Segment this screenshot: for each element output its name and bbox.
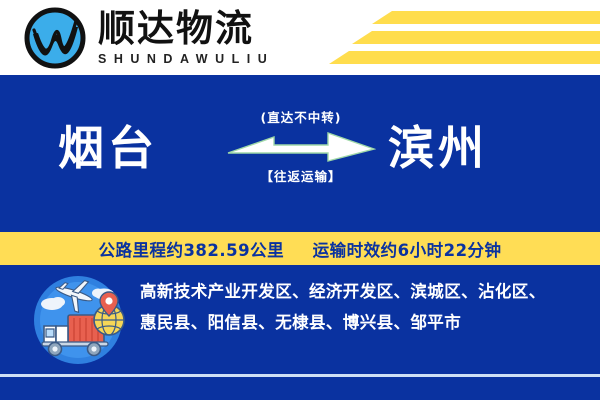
coverage-line-2: 惠民县、阳信县、无棣县、博兴县、邹平市 [140,308,588,339]
stats-bar: 公路里程约382.59公里 运输时效约6小时22分钟 [0,232,600,265]
stats-text-group: 公路里程约382.59公里 运输时效约6小时22分钟 [98,237,501,261]
brand-name-en: SHUNDAWULIU [98,52,274,66]
brand-logo-block: 顺达物流 SHUNDAWULIU [22,5,274,71]
brand-wordmark: 顺达物流 SHUNDAWULIU [98,10,274,66]
duration-label: 运输时效约6小时22分钟 [313,241,502,260]
coverage-area-list: 高新技术产业开发区、经济开发区、滨城区、沾化区、 惠民县、阳信县、无棣县、博兴县… [140,277,588,338]
distance-label: 公路里程约382.59公里 [98,241,284,260]
decorative-stripe-top [392,11,600,24]
logistics-truck-globe-plane-icon [22,270,134,370]
brand-name-cn: 顺达物流 [98,10,274,49]
logistics-route-banner: 顺达物流 SHUNDAWULIU 烟台 (直达不中转) 【往返运输】 滨州 公路… [0,0,600,400]
route-note-below: 【往返运输】 [226,170,376,184]
banner-header: 顺达物流 SHUNDAWULIU [0,0,600,75]
bidirectional-arrow-icon [226,131,376,165]
coverage-section: 高新技术产业开发区、经济开发区、滨城区、沾化区、 惠民县、阳信县、无棣县、博兴县… [0,265,600,374]
decorative-stripe-bottom [349,51,600,64]
decorative-stripe-middle [372,31,600,44]
origin-city-label: 烟台 [58,125,158,171]
route-section: 烟台 (直达不中转) 【往返运输】 滨州 [0,75,600,232]
banner-footer [0,377,600,400]
route-note-above: (直达不中转) [226,111,376,125]
route-arrow-group: (直达不中转) 【往返运输】 [226,111,376,184]
swoosh-circle-logo-icon [22,5,88,71]
coverage-line-1: 高新技术产业开发区、经济开发区、滨城区、沾化区、 [140,277,588,308]
destination-city-label: 滨州 [388,125,488,171]
